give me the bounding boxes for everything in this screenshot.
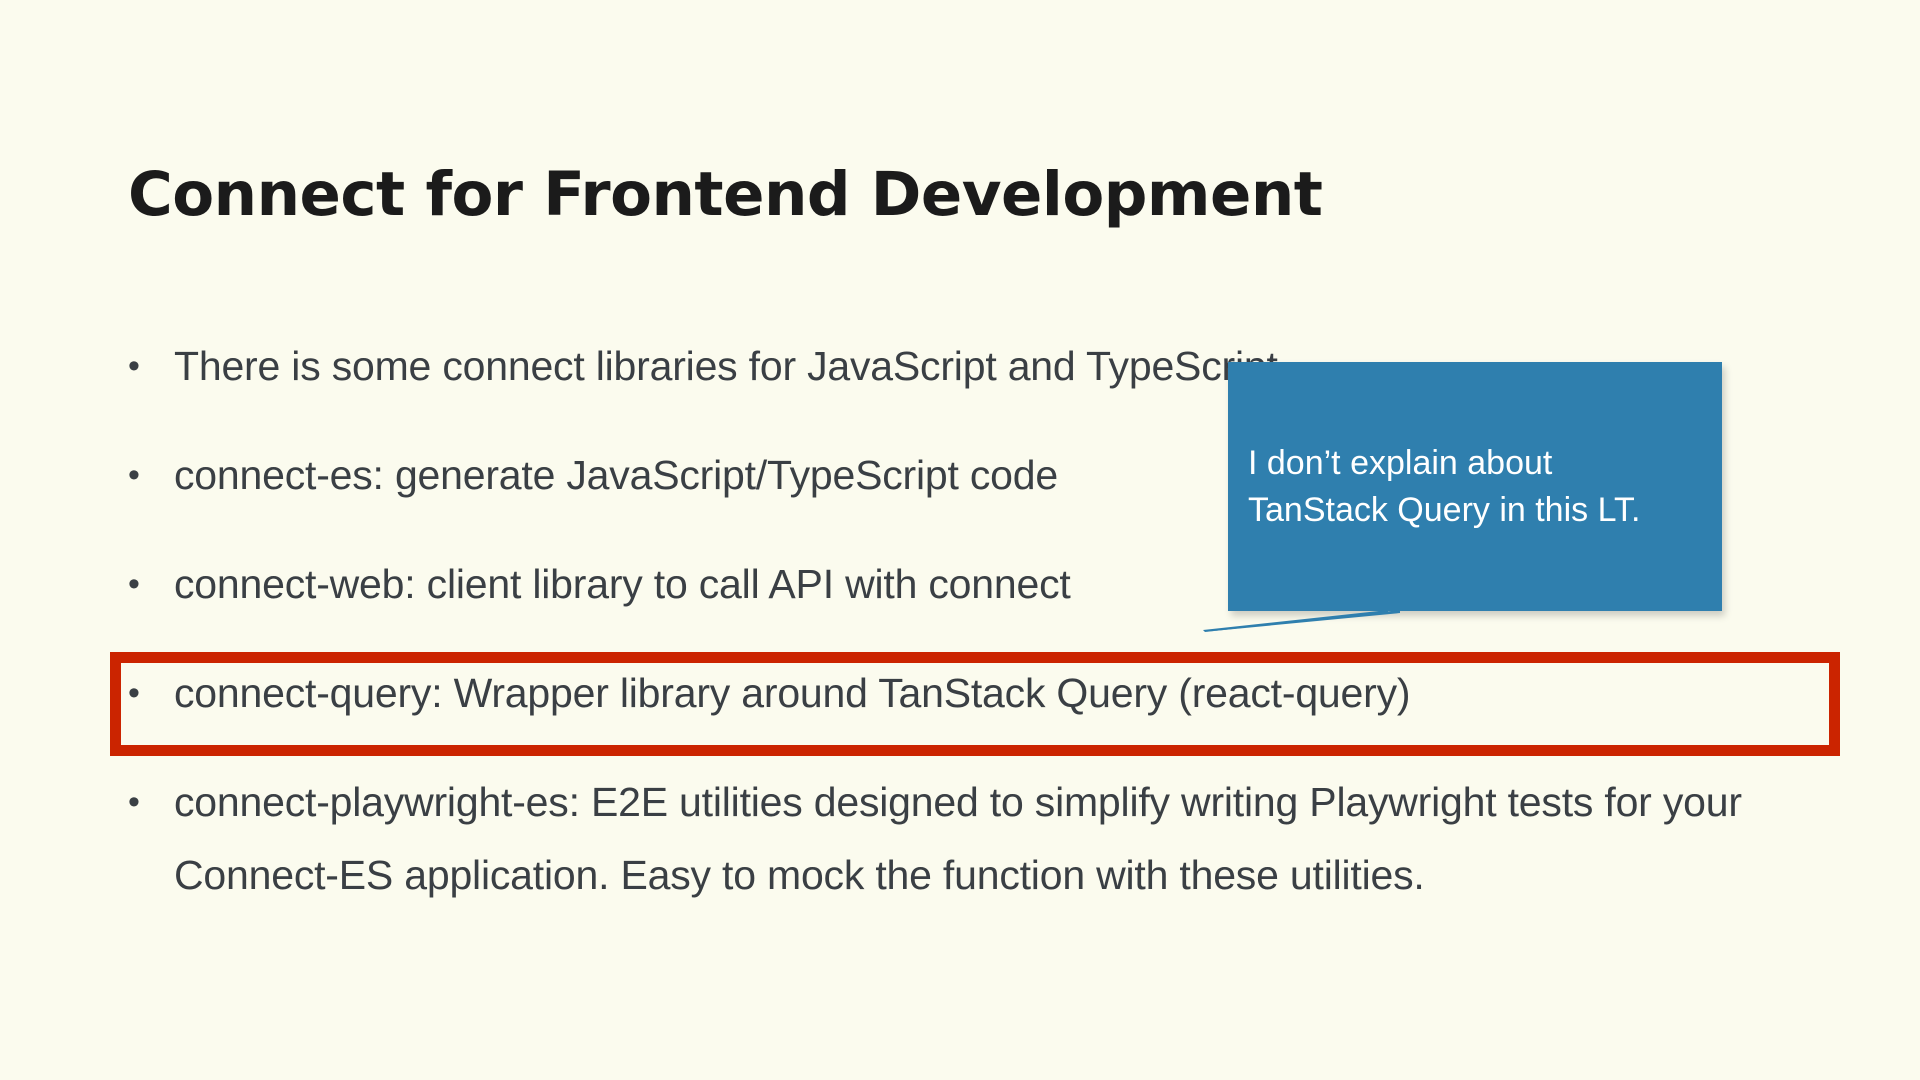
list-item-label: connect-query: Wrapper library around Ta…	[174, 657, 1784, 730]
bullet-dot-icon: •	[128, 766, 174, 839]
bullet-dot-icon: •	[128, 657, 174, 730]
list-item: • connect-playwright-es: E2E utilities d…	[128, 766, 1828, 912]
list-item-label: connect-playwright-es: E2E utilities des…	[174, 766, 1784, 912]
callout-line-1: I don’t explain about	[1248, 440, 1710, 487]
slide-canvas: Connect for Frontend Development • There…	[0, 0, 1920, 1080]
callout-text: I don’t explain about TanStack Query in …	[1248, 440, 1710, 534]
bullet-dot-icon: •	[128, 548, 174, 621]
page-title: Connect for Frontend Development	[128, 159, 1322, 230]
list-item-highlighted: • connect-query: Wrapper library around …	[128, 657, 1828, 730]
bullet-dot-icon: •	[128, 330, 174, 403]
callout-bubble: I don’t explain about TanStack Query in …	[1228, 362, 1722, 611]
callout-line-2: TanStack Query in this LT.	[1248, 487, 1710, 534]
bullet-dot-icon: •	[128, 439, 174, 512]
